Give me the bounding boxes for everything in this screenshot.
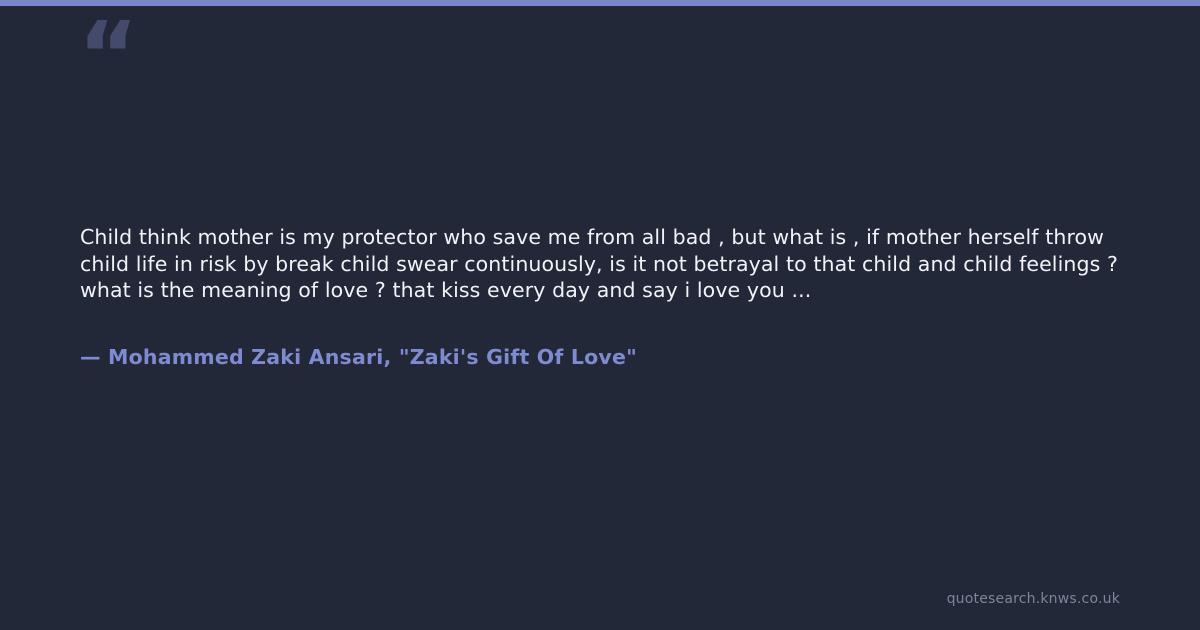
source-site-label: quotesearch.knws.co.uk	[947, 590, 1120, 608]
quote-card: “ Child think mother is my protector who…	[0, 0, 1200, 630]
top-accent-bar	[0, 0, 1200, 6]
quote-content: Child think mother is my protector who s…	[80, 224, 1120, 370]
quote-body-text: Child think mother is my protector who s…	[80, 224, 1120, 304]
open-quote-icon: “	[78, 10, 136, 102]
quote-attribution: — Mohammed Zaki Ansari, "Zaki's Gift Of …	[80, 304, 1120, 370]
